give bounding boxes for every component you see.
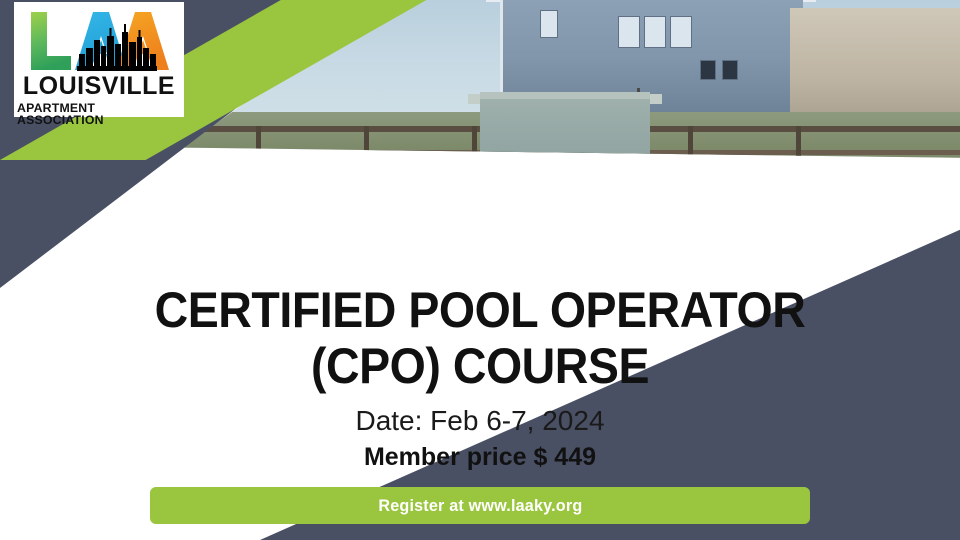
photo-house-window <box>700 60 716 80</box>
promotional-flyer: LOUISVILLE APARTMENT ASSOCIATION CERTIFI… <box>0 0 960 540</box>
page-title: CERTIFIED POOL OPERATOR (CPO) COURSE <box>34 282 927 394</box>
logo-organization-name: LOUISVILLE <box>23 74 175 99</box>
photo-house-window <box>670 16 692 48</box>
register-button[interactable]: Register at www.laaky.org <box>150 487 810 524</box>
event-date: Date: Feb 6-7, 2024 <box>0 407 960 435</box>
photo-house-window <box>540 10 558 38</box>
photo-second-house <box>790 8 960 126</box>
register-button-label: Register at www.laaky.org <box>378 496 582 516</box>
organization-logo: LOUISVILLE APARTMENT ASSOCIATION <box>14 2 184 117</box>
laa-monogram-icon <box>25 10 173 72</box>
flyer-content: CERTIFIED POOL OPERATOR (CPO) COURSE Dat… <box>0 282 960 470</box>
member-price: Member price $ 449 <box>0 445 960 470</box>
photo-house-window <box>618 16 640 48</box>
photo-house-window <box>644 16 666 48</box>
logo-organization-subtitle: APARTMENT ASSOCIATION <box>17 102 181 127</box>
photo-house-window <box>722 60 738 80</box>
